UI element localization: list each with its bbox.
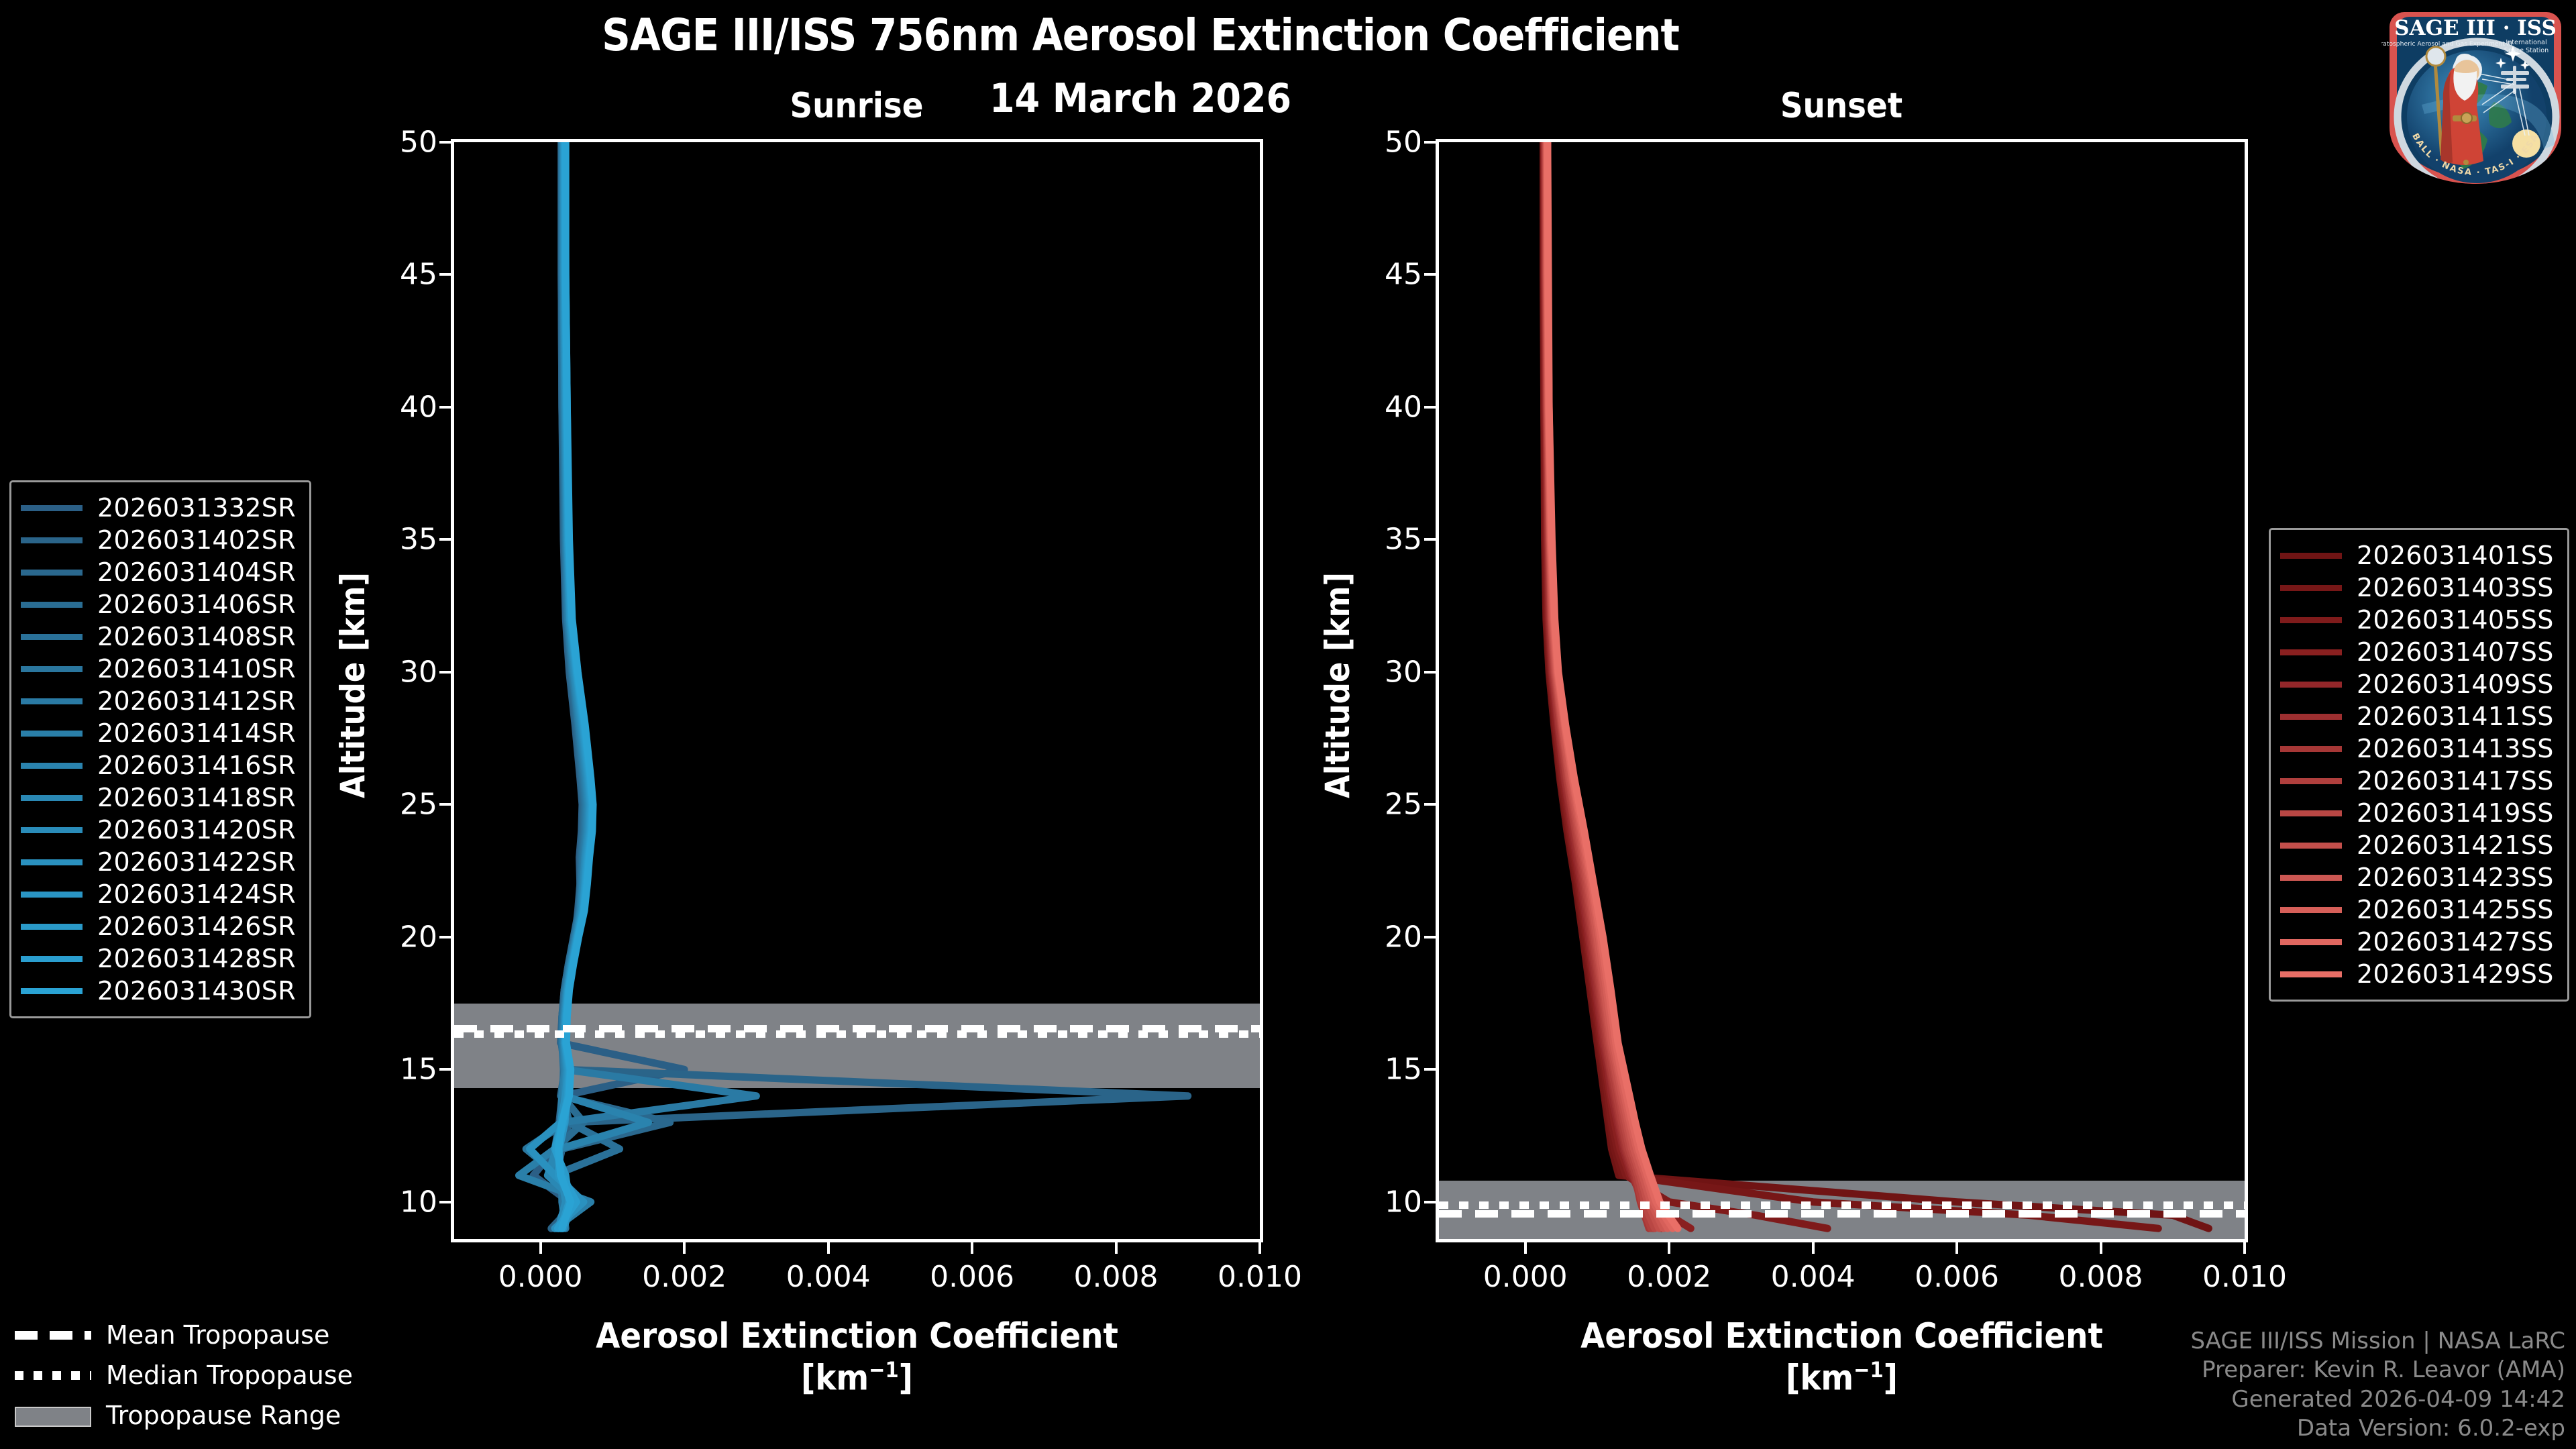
x-axis-tick-mark <box>2100 1242 2102 1254</box>
y-axis-tick-mark <box>439 1201 451 1203</box>
legend-color-swatch <box>21 892 83 898</box>
x-axis-tick-mark <box>1115 1242 1118 1254</box>
series-line <box>1544 142 2159 1228</box>
y-axis-title: Altitude [km] <box>1318 572 1357 798</box>
x-axis-title-units: [km−1] <box>451 1357 1263 1399</box>
legend-item-sunrise[interactable]: 2026031418SR <box>21 782 296 814</box>
x-axis-tick-mark <box>1668 1242 1670 1254</box>
legend-event-label: 2026031332SR <box>97 493 296 523</box>
legend-color-swatch <box>2280 778 2342 784</box>
y-axis-tick-mark <box>1424 273 1436 276</box>
x-axis-tick-mark <box>1258 1242 1261 1254</box>
legend-color-swatch <box>2280 746 2342 752</box>
legend-color-swatch <box>21 763 83 769</box>
legend-item-sunset[interactable]: 2026031423SS <box>2280 861 2554 894</box>
legend-color-swatch <box>21 634 83 640</box>
sunset-plot-area <box>1436 139 2248 1242</box>
x-axis-tick-mark <box>1812 1242 1815 1254</box>
credits-line-preparer: Preparer: Kevin R. Leavor (AMA) <box>2190 1356 2565 1385</box>
x-axis-tick-mark <box>1955 1242 1958 1254</box>
logo-subtitle-left: Stratospheric Aerosol and Gas Experiment… <box>2381 40 2512 48</box>
legend-color-swatch <box>2280 810 2342 816</box>
series-canvas <box>1439 142 2245 1239</box>
legend-event-label: 2026031424SR <box>97 879 296 909</box>
legend-color-swatch <box>2280 907 2342 913</box>
legend-event-label: 2026031420SR <box>97 815 296 845</box>
legend-color-swatch <box>21 537 83 543</box>
legend-item-sunset[interactable]: 2026031401SS <box>2280 539 2554 572</box>
legend-item-median-tropopause: Median Tropopause <box>15 1355 353 1395</box>
x-axis-tick-label: 0.010 <box>2167 1260 2322 1294</box>
legend-color-swatch <box>21 795 83 801</box>
x-axis-tick-mark <box>827 1242 830 1254</box>
y-axis-tick-mark <box>439 936 451 938</box>
legend-item-sunrise[interactable]: 2026031406SR <box>21 588 296 621</box>
sunrise-legend: 2026031332SR2026031402SR2026031404SR2026… <box>9 480 311 1018</box>
credits-line-generated: Generated 2026-04-09 14:42 <box>2190 1385 2565 1415</box>
legend-color-swatch <box>21 505 83 511</box>
series-canvas <box>454 142 1260 1239</box>
legend-color-swatch <box>21 988 83 994</box>
tropopause-range-swatch <box>15 1407 91 1427</box>
y-axis-tick-label: 15 <box>1342 1053 1422 1087</box>
legend-item-sunset[interactable]: 2026031429SS <box>2280 958 2554 990</box>
y-axis-tick-mark <box>1424 803 1436 806</box>
legend-item-sunset[interactable]: 2026031413SS <box>2280 733 2554 765</box>
y-axis-tick-label: 45 <box>1342 258 1422 292</box>
sunrise-plot-area <box>451 139 1263 1242</box>
legend-item-sunrise[interactable]: 2026031332SR <box>21 492 296 524</box>
legend-item-sunrise[interactable]: 2026031428SR <box>21 943 296 975</box>
legend-event-label: 2026031430SR <box>97 976 296 1006</box>
legend-color-swatch <box>2280 649 2342 655</box>
y-axis-title: Altitude [km] <box>333 572 372 798</box>
x-axis-title-line1: Aerosol Extinction Coefficient <box>451 1316 1263 1357</box>
legend-color-swatch <box>21 731 83 737</box>
legend-event-label: 2026031421SS <box>2357 830 2554 860</box>
legend-item-sunset[interactable]: 2026031403SS <box>2280 572 2554 604</box>
legend-item-sunrise[interactable]: 2026031412SR <box>21 685 296 717</box>
legend-event-label: 2026031403SS <box>2357 573 2554 602</box>
legend-item-sunrise[interactable]: 2026031414SR <box>21 717 296 749</box>
page-title: SAGE III/ISS 756nm Aerosol Extinction Co… <box>0 9 2281 61</box>
credits-line-version: Data Version: 6.0.2-exp <box>2190 1414 2565 1444</box>
x-axis-tick-label: 0.010 <box>1183 1260 1337 1294</box>
median-tropopause-line <box>454 1030 1260 1038</box>
x-axis-tick-label: 0.004 <box>1736 1260 1890 1294</box>
y-axis-tick-label: 50 <box>1342 125 1422 160</box>
y-axis-tick-mark <box>439 141 451 144</box>
legend-color-swatch <box>21 956 83 962</box>
y-axis-tick-mark <box>1424 538 1436 541</box>
legend-event-label: 2026031413SS <box>2357 734 2554 763</box>
legend-event-label: 2026031405SS <box>2357 605 2554 635</box>
legend-event-label: 2026031416SR <box>97 751 296 780</box>
x-axis-title-line1: Aerosol Extinction Coefficient <box>1436 1316 2248 1357</box>
mean-tropopause-line <box>1439 1210 2245 1218</box>
legend-color-swatch <box>21 602 83 608</box>
legend-event-label: 2026031414SR <box>97 718 296 748</box>
legend-item-mean-tropopause: Mean Tropopause <box>15 1315 353 1355</box>
legend-color-swatch <box>2280 585 2342 591</box>
series-line <box>1544 142 2209 1228</box>
x-axis-tick-label: 0.008 <box>1039 1260 1193 1294</box>
legend-color-swatch <box>2280 714 2342 720</box>
legend-item-sunset[interactable]: 2026031425SS <box>2280 894 2554 926</box>
median-tropopause-swatch <box>15 1371 91 1380</box>
y-axis-tick-mark <box>439 273 451 276</box>
median-tropopause-line <box>1439 1201 2245 1209</box>
mean-tropopause-swatch <box>15 1331 91 1340</box>
legend-event-label: 2026031406SR <box>97 590 296 619</box>
y-axis-tick-mark <box>1424 671 1436 674</box>
y-axis-tick-label: 40 <box>1342 390 1422 424</box>
legend-color-swatch <box>21 698 83 704</box>
legend-event-label: 2026031419SS <box>2357 798 2554 828</box>
legend-color-swatch <box>21 859 83 865</box>
legend-color-swatch <box>21 924 83 930</box>
legend-item-sunset[interactable]: 2026031417SS <box>2280 765 2554 797</box>
legend-item-sunrise[interactable]: 2026031422SR <box>21 846 296 878</box>
legend-event-label: 2026031425SS <box>2357 895 2554 924</box>
legend-color-swatch <box>2280 553 2342 559</box>
median-tropopause-label: Median Tropopause <box>106 1360 353 1390</box>
legend-color-swatch <box>2280 971 2342 977</box>
y-axis-tick-label: 20 <box>357 920 437 954</box>
legend-event-label: 2026031409SS <box>2357 669 2554 699</box>
y-axis-tick-label: 10 <box>1342 1185 1422 1219</box>
legend-color-swatch <box>2280 843 2342 849</box>
legend-item-sunset[interactable]: 2026031419SS <box>2280 797 2554 829</box>
y-axis-tick-mark <box>1424 936 1436 938</box>
legend-event-label: 2026031429SS <box>2357 959 2554 989</box>
series-line <box>1544 142 1828 1228</box>
x-axis-tick-label: 0.008 <box>2024 1260 2178 1294</box>
mean-tropopause-label: Mean Tropopause <box>106 1320 329 1350</box>
x-axis-tick-label: 0.000 <box>464 1260 618 1294</box>
legend-event-label: 2026031428SR <box>97 944 296 973</box>
x-axis-tick-mark <box>971 1242 973 1254</box>
sunset-legend: 2026031401SS2026031403SS2026031405SS2026… <box>2269 528 2569 1002</box>
x-axis-tick-mark <box>2243 1242 2246 1254</box>
legend-event-label: 2026031407SS <box>2357 637 2554 667</box>
y-axis-tick-label: 35 <box>357 523 437 557</box>
legend-item-tropopause-range: Tropopause Range <box>15 1395 353 1436</box>
legend-event-label: 2026031427SS <box>2357 927 2554 957</box>
legend-event-label: 2026031401SS <box>2357 541 2554 570</box>
tropopause-range-label: Tropopause Range <box>106 1401 341 1430</box>
legend-event-label: 2026031408SR <box>97 622 296 651</box>
legend-item-sunrise[interactable]: 2026031410SR <box>21 653 296 685</box>
y-axis-tick-mark <box>439 803 451 806</box>
x-axis-tick-label: 0.002 <box>607 1260 761 1294</box>
x-axis-tick-mark <box>683 1242 686 1254</box>
y-axis-tick-mark <box>439 406 451 409</box>
legend-item-sunrise[interactable]: 2026031420SR <box>21 814 296 846</box>
legend-item-sunrise[interactable]: 2026031408SR <box>21 621 296 653</box>
legend-item-sunrise[interactable]: 2026031424SR <box>21 878 296 910</box>
y-axis-tick-mark <box>1424 406 1436 409</box>
legend-item-sunrise[interactable]: 2026031402SR <box>21 524 296 556</box>
legend-color-swatch <box>2280 875 2342 881</box>
legend-event-label: 2026031418SR <box>97 783 296 812</box>
x-axis-tick-mark <box>539 1242 542 1254</box>
credits-line-mission: SAGE III/ISS Mission | NASA LaRC <box>2190 1327 2565 1356</box>
sage-iii-iss-mission-patch-logo: SAGE III · ISS Stratospheric Aerosol and… <box>2381 4 2569 192</box>
legend-item-sunrise[interactable]: 2026031404SR <box>21 556 296 588</box>
tropopause-legend: Mean Tropopause Median Tropopause Tropop… <box>15 1315 353 1436</box>
y-axis-tick-label: 15 <box>357 1053 437 1087</box>
y-axis-tick-mark <box>1424 1068 1436 1071</box>
logo-subtitle-right-line2: Space Station <box>2504 47 2548 54</box>
x-axis-tick-label: 0.000 <box>1448 1260 1603 1294</box>
y-axis-tick-label: 20 <box>1342 920 1422 954</box>
x-axis-tick-label: 0.006 <box>895 1260 1049 1294</box>
credits-block: SAGE III/ISS Mission | NASA LaRC Prepare… <box>2190 1327 2565 1444</box>
x-axis-tick-label: 0.004 <box>751 1260 906 1294</box>
sunset-panel-title: Sunset <box>1436 86 2247 126</box>
legend-event-label: 2026031404SR <box>97 557 296 587</box>
x-axis-tick-label: 0.006 <box>1880 1260 2034 1294</box>
y-axis-tick-label: 40 <box>357 390 437 424</box>
legend-color-swatch <box>2280 939 2342 945</box>
y-axis-tick-mark <box>1424 141 1436 144</box>
legend-event-label: 2026031412SR <box>97 686 296 716</box>
legend-event-label: 2026031410SR <box>97 654 296 684</box>
y-axis-tick-label: 35 <box>1342 523 1422 557</box>
legend-event-label: 2026031402SR <box>97 525 296 555</box>
legend-event-label: 2026031411SS <box>2357 702 2554 731</box>
legend-color-swatch <box>2280 617 2342 623</box>
legend-item-sunset[interactable]: 2026031411SS <box>2280 700 2554 733</box>
legend-color-swatch <box>21 570 83 576</box>
y-axis-tick-label: 45 <box>357 258 437 292</box>
legend-event-label: 2026031423SS <box>2357 863 2554 892</box>
x-axis-title: Aerosol Extinction Coefficient[km−1] <box>1436 1316 2248 1399</box>
logo-subtitle-right-line1: International <box>2506 39 2546 46</box>
y-axis-tick-mark <box>1424 1201 1436 1203</box>
series-line <box>547 142 1187 1228</box>
legend-color-swatch <box>2280 682 2342 688</box>
series-line <box>533 142 684 1228</box>
sunrise-panel-title: Sunrise <box>451 86 1263 126</box>
legend-event-label: 2026031422SR <box>97 847 296 877</box>
legend-item-sunset[interactable]: 2026031409SS <box>2280 668 2554 700</box>
legend-item-sunset[interactable]: 2026031407SS <box>2280 636 2554 668</box>
legend-item-sunset[interactable]: 2026031421SS <box>2280 829 2554 861</box>
legend-item-sunset[interactable]: 2026031405SS <box>2280 604 2554 636</box>
legend-event-label: 2026031426SR <box>97 912 296 941</box>
legend-item-sunset[interactable]: 2026031427SS <box>2280 926 2554 958</box>
x-axis-title-units: [km−1] <box>1436 1357 2248 1399</box>
logo-title-text: SAGE III · ISS <box>2394 16 2557 40</box>
x-axis-tick-label: 0.002 <box>1592 1260 1746 1294</box>
y-axis-tick-mark <box>439 538 451 541</box>
legend-color-swatch <box>21 666 83 672</box>
x-axis-title: Aerosol Extinction Coefficient[km−1] <box>451 1316 1263 1399</box>
legend-item-sunrise[interactable]: 2026031426SR <box>21 910 296 943</box>
legend-color-swatch <box>21 827 83 833</box>
x-axis-tick-mark <box>1524 1242 1527 1254</box>
y-axis-tick-label: 50 <box>357 125 437 160</box>
legend-event-label: 2026031417SS <box>2357 766 2554 796</box>
y-axis-tick-mark <box>439 1068 451 1071</box>
legend-item-sunrise[interactable]: 2026031416SR <box>21 749 296 782</box>
y-axis-tick-mark <box>439 671 451 674</box>
y-axis-tick-label: 10 <box>357 1185 437 1219</box>
legend-item-sunrise[interactable]: 2026031430SR <box>21 975 296 1007</box>
